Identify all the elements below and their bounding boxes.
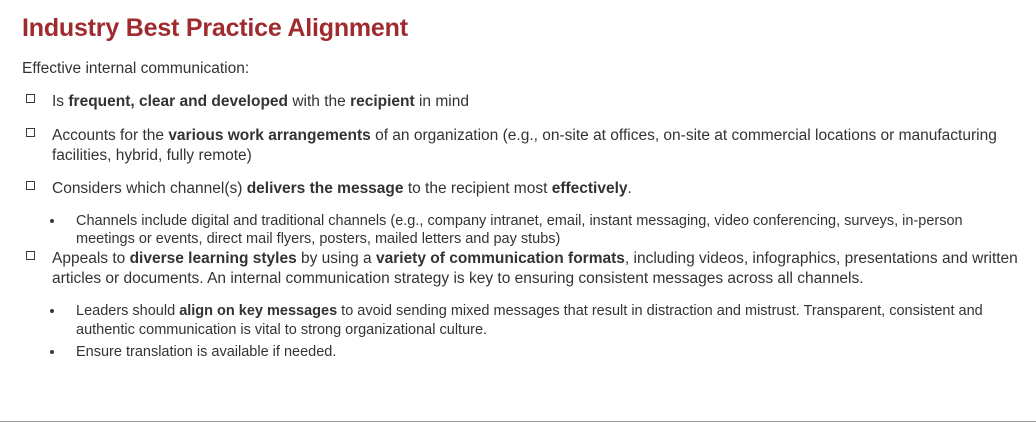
page-title: Industry Best Practice Alignment — [22, 14, 408, 43]
text-run: Appeals to — [52, 250, 130, 267]
text-run: to the recipient most — [404, 180, 552, 197]
bullet-list: Is frequent, clear and developed with th… — [22, 92, 1022, 362]
text-run: Channels include digital and traditional… — [76, 213, 963, 248]
text-run: in mind — [415, 93, 469, 110]
hollow-square-bullet-icon — [26, 250, 38, 262]
sub-bullet-text: Ensure translation is available if neede… — [76, 344, 336, 360]
hollow-square-bullet-icon — [26, 127, 38, 139]
emphasis-run: frequent, clear and developed — [68, 93, 288, 110]
sub-bullet-item: Leaders should align on key messages to … — [22, 302, 1022, 339]
round-dot-bullet-icon — [50, 350, 54, 354]
sub-bullet-text: Leaders should align on key messages to … — [76, 303, 983, 338]
bullet-item: Appeals to diverse learning styles by us… — [22, 249, 1022, 289]
bullet-item: Is frequent, clear and developed with th… — [22, 92, 1022, 112]
round-dot-bullet-icon — [50, 309, 54, 313]
slide-body: Effective internal communication: Is fre… — [22, 59, 1022, 362]
bullet-text: Is frequent, clear and developed with th… — [52, 93, 469, 110]
sub-bullet-text: Channels include digital and traditional… — [76, 213, 963, 248]
text-run: Leaders should — [76, 303, 179, 319]
bullet-text: Accounts for the various work arrangemen… — [52, 127, 997, 164]
text-run: Accounts for the — [52, 127, 168, 144]
emphasis-run: recipient — [350, 93, 415, 110]
slide-canvas: Industry Best Practice Alignment Effecti… — [0, 0, 1036, 430]
text-run: with the — [288, 93, 350, 110]
text-run: by using a — [297, 250, 376, 267]
emphasis-run: various work arrangements — [168, 127, 370, 144]
text-run: Considers which channel(s) — [52, 180, 247, 197]
bullet-item: Considers which channel(s) delivers the … — [22, 179, 1022, 199]
text-run: Is — [52, 93, 68, 110]
bullet-text: Appeals to diverse learning styles by us… — [52, 250, 1018, 287]
round-dot-bullet-icon — [50, 219, 54, 223]
emphasis-run: effectively — [552, 180, 628, 197]
sub-bullet-item: Ensure translation is available if neede… — [22, 343, 1022, 362]
lead-in-text: Effective internal communication: — [22, 59, 1022, 78]
emphasis-run: variety of communication formats — [376, 250, 625, 267]
bullet-text: Considers which channel(s) delivers the … — [52, 180, 632, 197]
text-run: Ensure translation is available if neede… — [76, 344, 336, 360]
bullet-item: Accounts for the various work arrangemen… — [22, 126, 1022, 166]
emphasis-run: diverse learning styles — [130, 250, 297, 267]
sub-bullet-item: Channels include digital and traditional… — [22, 212, 1022, 249]
hollow-square-bullet-icon — [26, 180, 38, 192]
emphasis-run: delivers the message — [247, 180, 404, 197]
text-run: . — [628, 180, 632, 197]
sub-bullet-list: Leaders should align on key messages to … — [22, 302, 1022, 362]
hollow-square-bullet-icon — [26, 93, 38, 105]
bottom-divider — [0, 421, 1036, 422]
emphasis-run: align on key messages — [179, 303, 337, 319]
sub-bullet-list: Channels include digital and traditional… — [22, 212, 1022, 249]
